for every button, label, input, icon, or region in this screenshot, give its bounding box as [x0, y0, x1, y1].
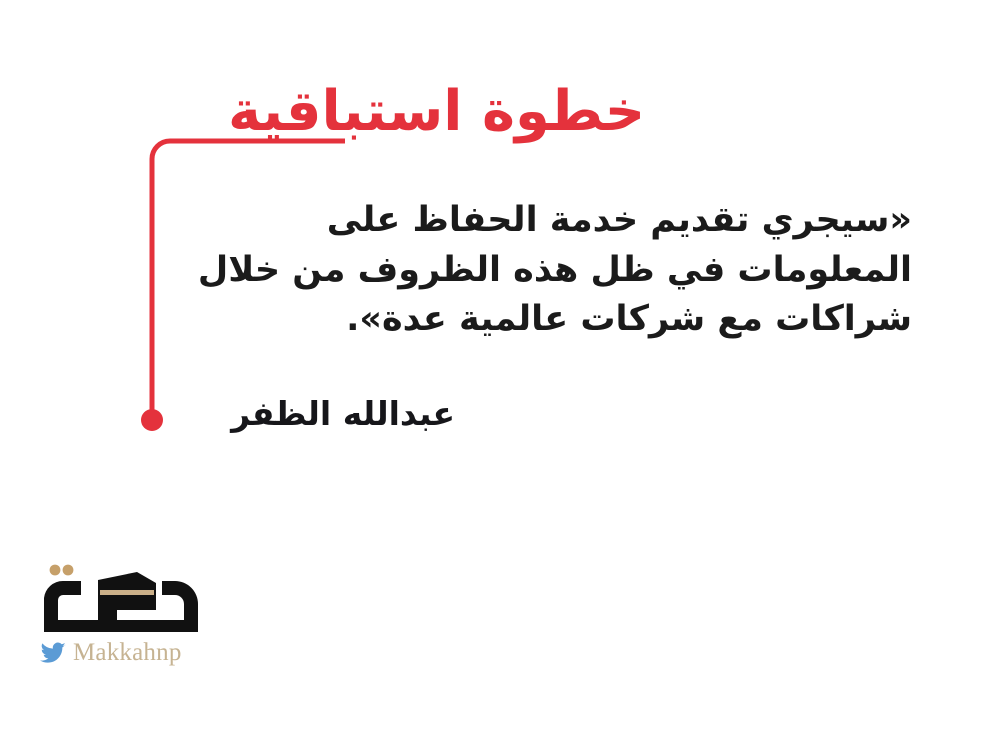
twitter-handle-row[interactable]: Makkahnp — [40, 640, 182, 665]
page-title: خطوة استباقية — [228, 82, 768, 141]
quote-line-1: «سيجري تقديم خدمة الحفاظ على — [212, 196, 912, 246]
quote-line-2: المعلومات في ظل هذه الظروف من خلال — [212, 246, 912, 296]
twitter-handle-text[interactable]: Makkahnp — [73, 640, 182, 665]
bracket-end-dot — [141, 409, 163, 431]
logo-baseline — [44, 620, 198, 632]
brand-logo-block: Makkahnp — [34, 558, 224, 678]
twitter-bird-icon[interactable] — [40, 642, 66, 664]
makkah-logo-icon — [34, 558, 206, 636]
logo-dot-left — [63, 565, 74, 576]
quote-text: «سيجري تقديم خدمة الحفاظ على المعلومات ف… — [212, 196, 912, 345]
kaaba-gold-band — [100, 590, 154, 595]
quote-attribution: عبدالله الظفر — [231, 396, 455, 432]
logo-dot-right — [50, 565, 61, 576]
quote-line-3: شراكات مع شركات عالمية عدة». — [212, 295, 912, 345]
quote-card: خطوة استباقية «سيجري تقديم خدمة الحفاظ ع… — [0, 0, 1000, 750]
